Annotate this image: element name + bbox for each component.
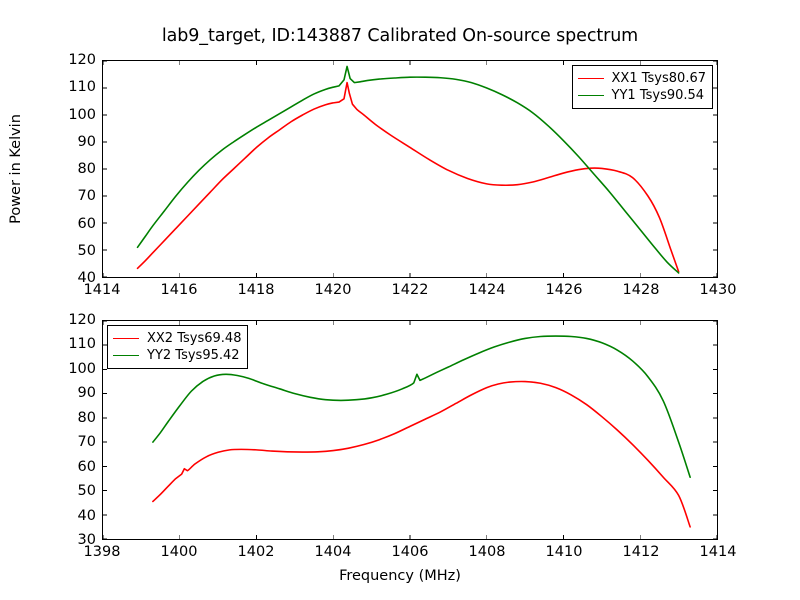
y-tick-label: 90: [54, 134, 96, 150]
legend-entry: YY2 Tsys95.42: [113, 347, 241, 364]
x-tick-label: 1412: [623, 544, 660, 560]
y-axis-label-top: Power in Kelvin: [8, 114, 24, 224]
y-tick-label: 120: [54, 52, 96, 68]
data-series-line: [153, 381, 690, 526]
figure-canvas: lab9_target, ID:143887 Calibrated On-sou…: [0, 0, 800, 600]
x-tick-label: 1402: [238, 544, 275, 560]
legend-label: XX1 Tsys80.67: [612, 71, 706, 86]
y-tick-label: 80: [54, 161, 96, 177]
x-tick-label: 1422: [392, 282, 429, 298]
y-tick-label: 110: [54, 79, 96, 95]
plot-area-bottom: XX2 Tsys69.48YY2 Tsys95.42: [102, 320, 718, 540]
y-tick-label: 60: [54, 459, 96, 475]
x-tick-label: 1428: [623, 282, 660, 298]
legend-entry: XX2 Tsys69.48: [113, 330, 241, 347]
legend-entry: XX1 Tsys80.67: [578, 70, 706, 87]
figure-title: lab9_target, ID:143887 Calibrated On-sou…: [0, 26, 800, 46]
legend-color-swatch: [113, 338, 139, 339]
x-tick-label: 1404: [315, 544, 352, 560]
x-tick-label: 1430: [700, 282, 737, 298]
legend-entry: YY1 Tsys90.54: [578, 87, 706, 104]
y-tick-label: 50: [54, 483, 96, 499]
legend-color-swatch: [578, 95, 604, 96]
x-axis-label-bottom: Frequency (MHz): [0, 568, 800, 584]
x-tick-label: 1420: [315, 282, 352, 298]
x-tick-label: 1410: [546, 544, 583, 560]
y-tick-label: 100: [54, 107, 96, 123]
legend-color-swatch: [578, 78, 604, 79]
legend-top: XX1 Tsys80.67YY1 Tsys90.54: [572, 65, 713, 109]
y-tick-label: 120: [54, 312, 96, 328]
y-tick-label: 110: [54, 336, 96, 352]
y-tick-label: 40: [54, 508, 96, 524]
x-tick-label: 1424: [469, 282, 506, 298]
legend-label: XX2 Tsys69.48: [147, 331, 241, 346]
plot-area-top: XX1 Tsys80.67YY1 Tsys90.54: [102, 60, 718, 278]
x-tick-label: 1414: [700, 544, 737, 560]
y-tick-label: 40: [54, 270, 96, 286]
y-tick-label: 90: [54, 385, 96, 401]
legend-color-swatch: [113, 355, 139, 356]
y-tick-label: 100: [54, 361, 96, 377]
x-tick-label: 1426: [546, 282, 583, 298]
legend-bottom: XX2 Tsys69.48YY2 Tsys95.42: [107, 325, 248, 369]
legend-label: YY1 Tsys90.54: [612, 88, 705, 103]
y-tick-label: 50: [54, 243, 96, 259]
y-tick-label: 30: [54, 532, 96, 548]
x-tick-label: 1418: [238, 282, 275, 298]
y-tick-label: 70: [54, 434, 96, 450]
x-tick-label: 1406: [392, 544, 429, 560]
y-tick-label: 70: [54, 188, 96, 204]
x-tick-label: 1416: [161, 282, 198, 298]
legend-label: YY2 Tsys95.42: [147, 348, 240, 363]
y-tick-label: 60: [54, 216, 96, 232]
y-tick-label: 80: [54, 410, 96, 426]
x-tick-label: 1400: [161, 544, 198, 560]
x-tick-label: 1408: [469, 544, 506, 560]
